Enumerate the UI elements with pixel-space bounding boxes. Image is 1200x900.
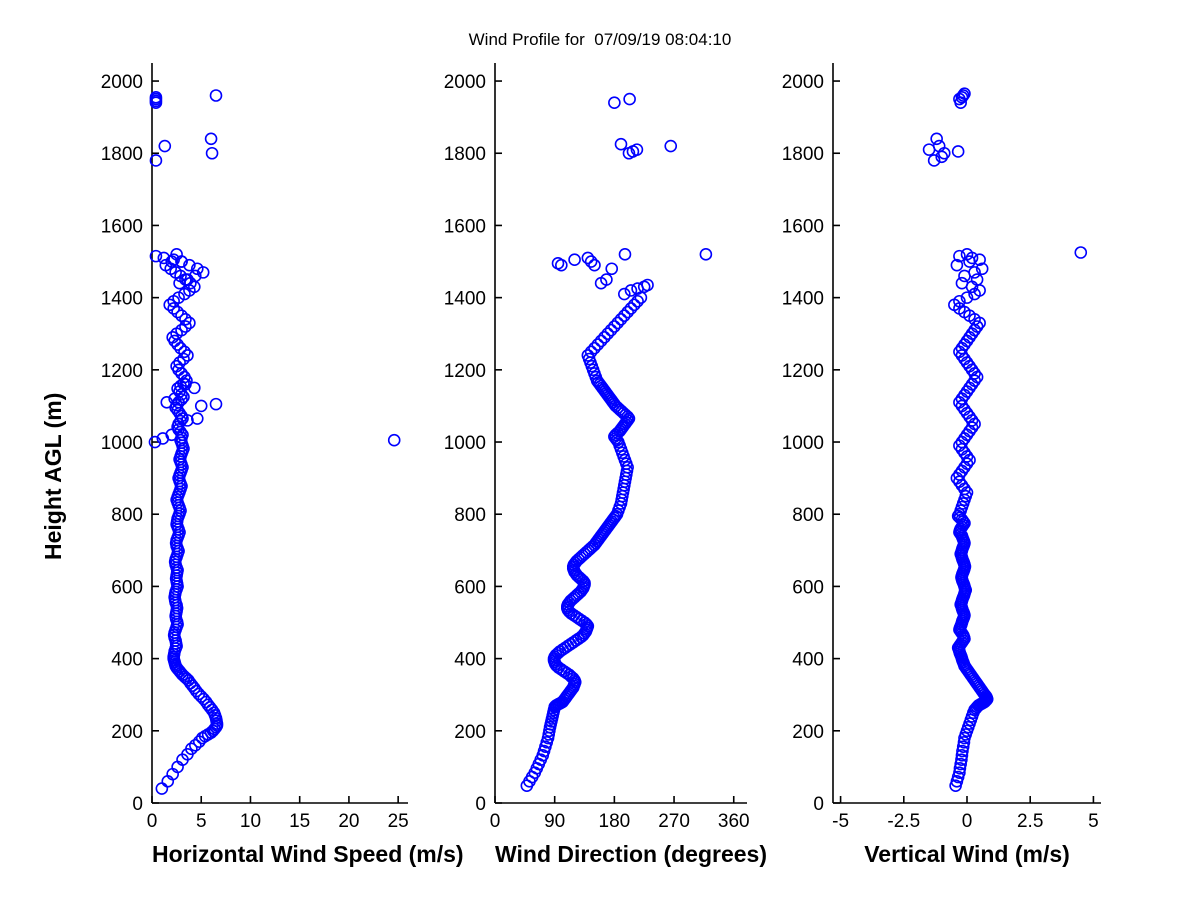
data-point-marker: [624, 94, 635, 105]
panel-horizontal-wind-speed-y-tick-label: 0: [132, 794, 143, 815]
data-point-marker: [619, 289, 630, 300]
panel-vertical-wind-y-tick-label: 1000: [782, 433, 824, 454]
panel-vertical-wind-y-tick-label: 400: [792, 650, 824, 671]
data-point-marker: [606, 263, 617, 274]
data-point-marker: [159, 141, 170, 152]
panel-vertical-wind-x-tick-label: 2.5: [1017, 811, 1043, 832]
panel-wind-direction: 0200400600800100012001400160018002000090…: [495, 63, 747, 803]
panel-vertical-wind-y-tick-label: 1600: [782, 216, 824, 237]
data-point-marker: [389, 435, 400, 446]
data-point-marker: [206, 133, 217, 144]
panel-vertical-wind-x-ticks: -5-2.502.55: [832, 796, 1099, 832]
panel-wind-direction-y-tick-label: 1200: [444, 361, 486, 382]
panel-wind-direction-x-ticks: 090180270360: [490, 796, 750, 832]
panel-horizontal-wind-speed-x-tick-label: 15: [289, 811, 310, 832]
panel-vertical-wind-x-tick-label: 5: [1088, 811, 1099, 832]
panel-vertical-wind-y-tick-label: 0: [813, 794, 824, 815]
panel-horizontal-wind-speed-y-tick-label: 1200: [101, 361, 143, 382]
panel-vertical-wind-y-tick-label: 1400: [782, 289, 824, 310]
data-point-marker: [211, 90, 222, 101]
panel-wind-direction-x-tick-label: 360: [718, 811, 750, 832]
panel-vertical-wind-y-tick-label: 200: [792, 722, 824, 743]
panel-wind-direction-x-axis-label: Wind Direction (degrees): [495, 841, 747, 868]
panel-wind-direction-x-tick-label: 0: [490, 811, 501, 832]
y-axis-label: Height AGL (m): [40, 393, 67, 560]
panel-horizontal-wind-speed-x-axis-label: Horizontal Wind Speed (m/s): [152, 841, 408, 868]
data-point-marker: [953, 146, 964, 157]
panel-horizontal-wind-speed-x-tick-label: 25: [388, 811, 409, 832]
data-point-marker: [196, 400, 207, 411]
data-point-marker: [665, 141, 676, 152]
panel-wind-direction-x-tick-label: 270: [658, 811, 690, 832]
wind-profile-figure: Wind Profile for 07/09/19 08:04:10 Heigh…: [0, 0, 1200, 900]
panel-wind-direction-y-tick-label: 2000: [444, 72, 486, 93]
panel-vertical-wind-x-tick-label: -2.5: [887, 811, 920, 832]
data-point-marker: [556, 260, 567, 271]
data-point-marker: [700, 249, 711, 260]
panel-vertical-wind-y-tick-label: 800: [792, 505, 824, 526]
panel-wind-direction-y-tick-label: 200: [454, 722, 486, 743]
panel-vertical-wind-canvas: 0200400600800100012001400160018002000-5-…: [773, 51, 1161, 873]
panel-wind-direction-y-tick-label: 600: [454, 577, 486, 598]
data-point-marker: [956, 278, 967, 289]
data-point-marker: [642, 280, 653, 291]
data-point-marker: [616, 139, 627, 150]
panel-horizontal-wind-speed-y-tick-label: 1600: [101, 216, 143, 237]
panel-horizontal-wind-speed-y-tick-label: 1000: [101, 433, 143, 454]
panel-wind-direction-y-tick-label: 1600: [444, 216, 486, 237]
data-point-marker: [569, 254, 580, 265]
panel-wind-direction-y-tick-label: 400: [454, 650, 486, 671]
panel-horizontal-wind-speed-y-tick-label: 400: [111, 650, 143, 671]
panel-horizontal-wind-speed-y-tick-label: 800: [111, 505, 143, 526]
panel-horizontal-wind-speed-canvas: 0200400600800100012001400160018002000051…: [92, 51, 468, 873]
panel-horizontal-wind-speed-x-ticks: 0510152025: [147, 796, 409, 832]
panel-horizontal-wind-speed-y-tick-label: 1800: [101, 144, 143, 165]
panel-wind-direction-x-tick-label: 90: [544, 811, 565, 832]
data-point-marker: [964, 256, 975, 267]
panel-vertical-wind-x-tick-label: 0: [962, 811, 973, 832]
panel-horizontal-wind-speed-y-tick-label: 600: [111, 577, 143, 598]
data-point-marker: [619, 249, 630, 260]
panel-horizontal-wind-speed-x-tick-label: 5: [196, 811, 207, 832]
panel-wind-direction-data-points: [521, 94, 711, 792]
panel-vertical-wind: 0200400600800100012001400160018002000-5-…: [833, 63, 1101, 803]
panel-wind-direction-y-tick-label: 1000: [444, 433, 486, 454]
panel-vertical-wind-y-tick-label: 2000: [782, 72, 824, 93]
panel-vertical-wind-data-points: [924, 88, 1087, 791]
data-point-marker: [609, 97, 620, 108]
panel-wind-direction-y-tick-label: 800: [454, 505, 486, 526]
data-point-marker: [156, 783, 167, 794]
panel-wind-direction-y-tick-label: 0: [475, 794, 486, 815]
panel-horizontal-wind-speed-y-tick-label: 200: [111, 722, 143, 743]
panel-horizontal-wind-speed-y-tick-label: 1400: [101, 289, 143, 310]
data-point-marker: [1075, 247, 1086, 258]
panel-vertical-wind-x-tick-label: -5: [832, 811, 849, 832]
panel-horizontal-wind-speed-x-tick-label: 20: [338, 811, 359, 832]
figure-title: Wind Profile for 07/09/19 08:04:10: [0, 30, 1200, 50]
panel-vertical-wind-y-tick-label: 1800: [782, 144, 824, 165]
data-point-marker: [625, 285, 636, 296]
panel-horizontal-wind-speed-data-points: [149, 90, 399, 794]
panel-wind-direction-canvas: 0200400600800100012001400160018002000090…: [435, 51, 807, 873]
panel-horizontal-wind-speed-x-tick-label: 0: [147, 811, 158, 832]
panel-vertical-wind-y-tick-label: 1200: [782, 361, 824, 382]
panel-wind-direction-y-ticks: 0200400600800100012001400160018002000: [444, 72, 502, 815]
panel-vertical-wind-y-ticks: 0200400600800100012001400160018002000: [782, 72, 840, 815]
panel-vertical-wind-y-tick-label: 600: [792, 577, 824, 598]
panel-wind-direction-y-tick-label: 1400: [444, 289, 486, 310]
data-point-marker: [931, 133, 942, 144]
data-point-marker: [207, 148, 218, 159]
panel-horizontal-wind-speed-y-tick-label: 2000: [101, 72, 143, 93]
panel-horizontal-wind-speed-x-tick-label: 10: [240, 811, 261, 832]
panel-vertical-wind-x-axis-label: Vertical Wind (m/s): [833, 841, 1101, 868]
panel-horizontal-wind-speed: 0200400600800100012001400160018002000051…: [152, 63, 408, 803]
panel-wind-direction-x-tick-label: 180: [599, 811, 631, 832]
panel-wind-direction-y-tick-label: 1800: [444, 144, 486, 165]
data-point-marker: [211, 399, 222, 410]
